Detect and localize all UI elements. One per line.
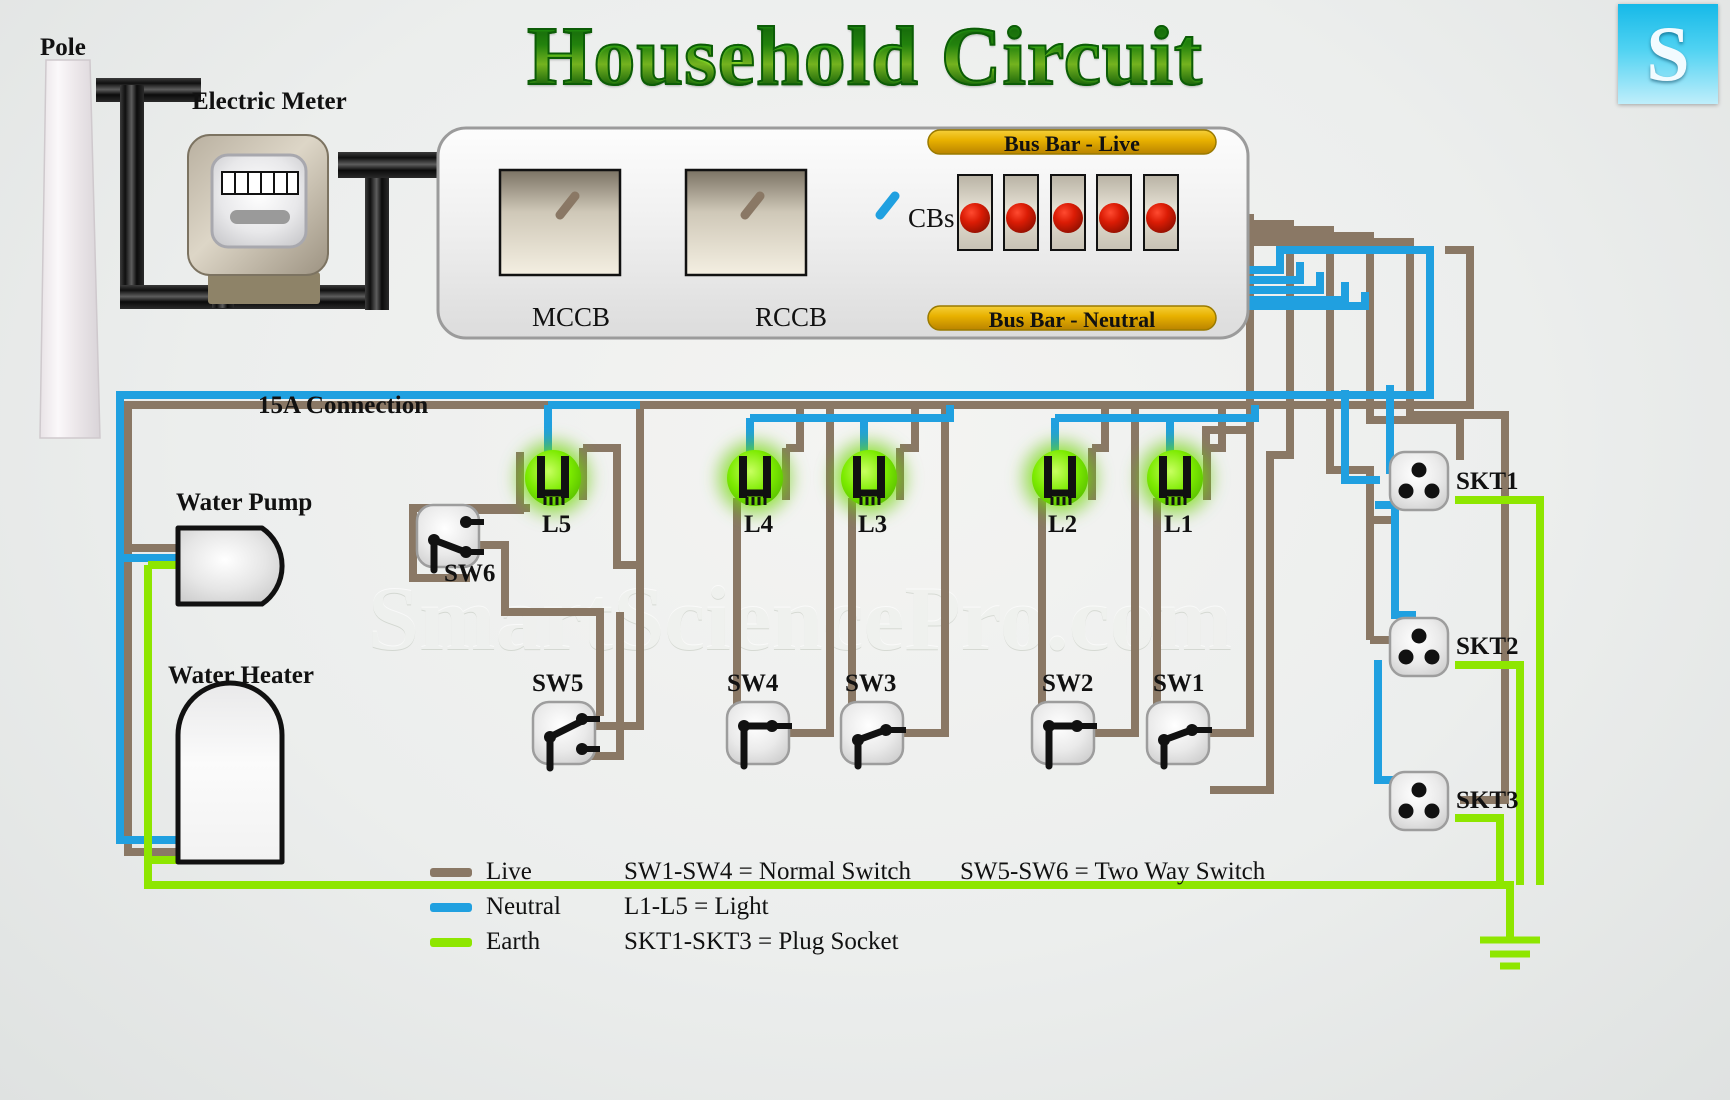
switch-label-SW5: SW5	[532, 670, 583, 698]
switch-label-SW1: SW1	[1153, 670, 1204, 698]
switches-group	[417, 505, 1212, 768]
rccb-label: RCCB	[755, 302, 827, 333]
socket-SKT1	[1390, 452, 1448, 510]
legend-label-live: Live	[486, 858, 532, 886]
bus-bar-live-label: Bus Bar - Live	[928, 131, 1216, 157]
rccb-body	[686, 170, 806, 275]
legend-swatches	[430, 868, 472, 947]
socket-label-SKT2: SKT2	[1456, 633, 1519, 661]
switch-label-SW6: SW6	[444, 560, 495, 588]
legend-note-plug-socket: SKT1-SKT3 = Plug Socket	[624, 928, 899, 956]
water-heater	[178, 683, 282, 862]
legend-note-light: L1-L5 = Light	[624, 893, 769, 921]
legend-note-normal-switch: SW1-SW4 = Normal Switch	[624, 858, 911, 886]
switch-SW5	[533, 702, 600, 768]
lamp-label-L2: L2	[1048, 511, 1077, 539]
legend-swatch-live	[430, 868, 472, 877]
switch-label-SW4: SW4	[727, 670, 778, 698]
mccb-body	[500, 170, 620, 275]
pole-label: Pole	[40, 34, 86, 62]
water-pump	[178, 528, 282, 604]
utility-pole	[40, 60, 100, 438]
legend-label-neutral: Neutral	[486, 893, 561, 921]
legend-label-earth: Earth	[486, 928, 540, 956]
switch-SW2	[1032, 702, 1097, 766]
cbs-label: CBs	[908, 203, 955, 234]
switch-label-SW2: SW2	[1042, 670, 1093, 698]
lamp-label-L1: L1	[1164, 511, 1193, 539]
switch-SW1	[1147, 702, 1212, 766]
circuit-diagram-canvas: Household Circuit S SmartSciencePro.com	[0, 0, 1730, 1100]
lamp-label-L5: L5	[542, 511, 571, 539]
socket-SKT2	[1390, 618, 1448, 676]
lamp-label-L4: L4	[744, 511, 773, 539]
meter-digit-window	[222, 172, 298, 194]
switch-label-SW3: SW3	[845, 670, 896, 698]
switch-SW3	[841, 702, 906, 766]
sockets-group	[1390, 452, 1448, 830]
bus-bar-neutral-label: Bus Bar - Neutral	[928, 307, 1216, 333]
electric-meter-label: Electric Meter	[192, 88, 347, 116]
connection-rating-label: 15A Connection	[258, 392, 428, 420]
electric-meter	[188, 135, 328, 304]
circuit-breakers	[958, 175, 1178, 250]
water-pump-label: Water Pump	[176, 489, 312, 517]
water-heater-label: Water Heater	[168, 662, 314, 690]
switch-SW4	[727, 702, 792, 766]
socket-label-SKT3: SKT3	[1456, 787, 1519, 815]
socket-SKT3	[1390, 772, 1448, 830]
mccb-label: MCCB	[532, 302, 610, 333]
legend-swatch-earth	[430, 938, 472, 947]
lamp-label-L3: L3	[858, 511, 887, 539]
earth-ground-symbol	[1480, 885, 1540, 966]
legend-swatch-neutral	[430, 903, 472, 912]
legend-note-two-way-switch: SW5-SW6 = Two Way Switch	[960, 858, 1265, 886]
socket-label-SKT1: SKT1	[1456, 468, 1519, 496]
